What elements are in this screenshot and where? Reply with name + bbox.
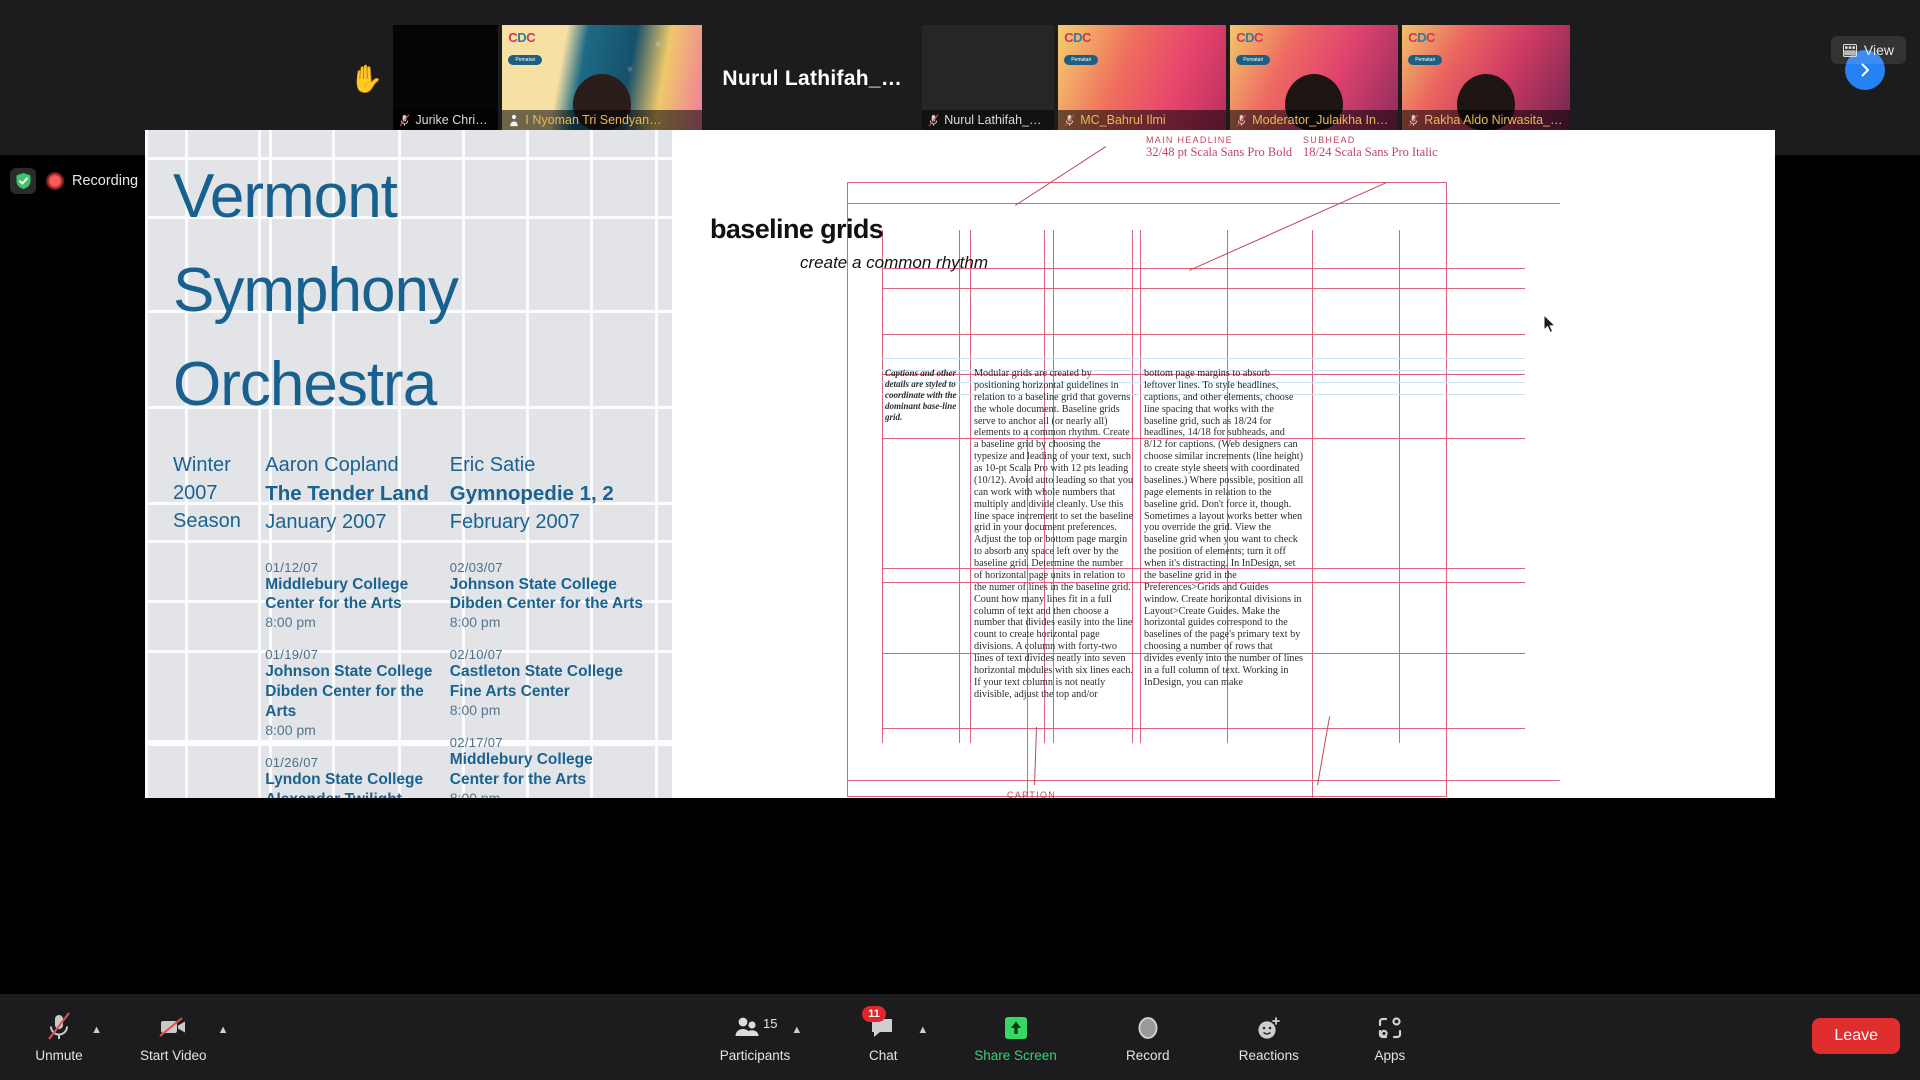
annotation-key: SUBHEAD — [1303, 135, 1438, 145]
cdc-logo: CDC — [1408, 30, 1435, 45]
toolbar-label: Reactions — [1239, 1048, 1299, 1063]
shield-check-icon — [15, 172, 32, 190]
program-month: January 2007 — [265, 508, 450, 536]
listing-venue-line: Center for the Arts — [450, 770, 644, 790]
program-work: Gymnopedie 1, 2 — [450, 479, 644, 508]
listing-venue-line: Middlebury College — [450, 750, 644, 770]
listing-venue-line: Dibden Center for the Arts — [265, 682, 450, 722]
cdc-pill: Pematari — [1408, 55, 1442, 65]
listing-venue-line: Fine Arts Center — [450, 682, 644, 702]
annotation-subhead: SUBHEAD 18/24 Scala Sans Pro Italic — [1303, 135, 1438, 160]
listing-venue-line: Center for the Arts — [265, 594, 450, 614]
recording-indicator[interactable]: Recording — [46, 172, 138, 190]
listing-venue-line: Alexander Twilight Theater — [265, 790, 450, 798]
listing-time: 8:00 pm — [450, 614, 644, 630]
participants-icon: 152 — [732, 1012, 778, 1042]
listing-venue-line: Dibden Center for the Arts — [450, 594, 644, 614]
microphone-off-icon — [46, 1012, 72, 1042]
program-month: February 2007 — [450, 508, 644, 536]
raised-hand-icon: ✋ — [350, 66, 384, 93]
participant-name: I Nyoman Tri Sendyan… — [525, 113, 661, 127]
listing-venue-line: Lyndon State College — [265, 770, 450, 790]
baseline-grid-diagram: baseline grids create a common rhythm Ca… — [672, 130, 1775, 798]
record-icon — [1134, 1012, 1162, 1042]
reactions-icon — [1254, 1012, 1284, 1042]
participant-name: MC_Bahrul Ilmi — [1080, 113, 1165, 127]
microphone-off-icon — [399, 114, 410, 127]
cdc-pill: Pematari — [1064, 55, 1098, 65]
encryption-status-button[interactable] — [10, 168, 36, 194]
leave-button[interactable]: Leave — [1812, 1018, 1900, 1054]
diagram-body-column-1: Modular grids are created by positioning… — [974, 368, 1134, 728]
toolbar-label: Unmute — [35, 1048, 82, 1063]
listing-time: 8:00 pm — [450, 790, 644, 798]
listing-item: 02/17/07 Middlebury College Center for t… — [450, 735, 644, 798]
svg-text:152: 152 — [763, 1016, 778, 1031]
toolbar-label: Start Video — [140, 1048, 207, 1063]
participant-name: Nurul Lathifah_PWK — [944, 113, 1048, 127]
grid-view-icon — [1843, 44, 1857, 57]
season-line: Winter — [173, 451, 265, 479]
recording-dot-icon — [46, 172, 64, 190]
toolbar-label: Chat — [869, 1048, 898, 1063]
poster-title-line: Orchestra — [173, 338, 644, 432]
listing-date: 01/26/07 — [265, 755, 450, 770]
listing-venue-line: Middlebury College — [265, 575, 450, 595]
camera-off-icon — [158, 1012, 188, 1042]
start-video-button[interactable]: ▲ Start Video — [130, 1012, 217, 1063]
toolbar-label: Record — [1126, 1048, 1170, 1063]
chat-unread-badge: 11 — [862, 1006, 886, 1022]
reactions-button[interactable]: Reactions — [1229, 1012, 1309, 1063]
share-screen-icon — [1002, 1012, 1030, 1042]
annotation-key: CAPTION — [1007, 790, 1056, 798]
poster-season: Winter 2007 Season — [173, 451, 265, 537]
poster-program: Eric Satie Gymnopedie 1, 2 February 2007 — [450, 451, 644, 537]
annotation-main-headline: MAIN HEADLINE 32/48 pt Scala Sans Pro Bo… — [1146, 135, 1292, 160]
participant-namebar: Nurul Lathifah_PWK — [922, 110, 1054, 130]
participants-button[interactable]: 152 ▲ Participants — [710, 1012, 801, 1063]
annotation-key: MAIN HEADLINE — [1146, 135, 1292, 145]
cdc-pill: Pematari — [1236, 55, 1270, 65]
listing-date: 02/10/07 — [450, 647, 644, 662]
participant-name: Moderator_Julaikha In… — [1252, 113, 1388, 127]
participant-namebar: MC_Bahrul Ilmi — [1058, 110, 1226, 130]
microphone-off-icon — [928, 114, 939, 127]
annotation-caption: CAPTION — [1007, 790, 1056, 798]
participant-namebar: I Nyoman Tri Sendyan… — [502, 110, 702, 130]
annotation-value: 32/48 pt Scala Sans Pro Bold — [1146, 145, 1292, 160]
annotation-value: 18/24 Scala Sans Pro Italic — [1303, 145, 1438, 160]
cdc-logo: CDC — [1236, 30, 1263, 45]
zoom-meeting-window: ✋ Jurike Christine Sembi… CDC Pematari — [0, 0, 1920, 1080]
apps-icon — [1376, 1012, 1404, 1042]
participant-tile[interactable]: CDC Pematari I Nyoman Tri Sendyan… — [502, 25, 702, 130]
toolbar-label: Participants — [720, 1048, 791, 1063]
listing-column-january: 01/12/07 Middlebury College Center for t… — [265, 543, 450, 798]
participant-name: Jurike Christine Sembi… — [415, 113, 492, 127]
program-composer: Aaron Copland — [265, 451, 450, 479]
listing-date: 02/17/07 — [450, 735, 644, 750]
share-screen-button[interactable]: Share Screen — [964, 1012, 1067, 1063]
season-line: 2007 — [173, 479, 265, 507]
listing-date: 02/03/07 — [450, 560, 644, 575]
leave-button-label: Leave — [1834, 1027, 1878, 1044]
participant-tile[interactable]: Jurike Christine Sembi… — [393, 25, 498, 130]
vso-poster: Vermont Symphony Orchestra Winter 2007 S… — [145, 130, 672, 798]
meeting-toolbar: ▲ Unmute ▲ Start Video 15 — [0, 994, 1920, 1080]
microphone-off-icon — [1236, 114, 1247, 127]
poster-program: Aaron Copland The Tender Land January 20… — [265, 451, 450, 537]
shared-screen-content: Vermont Symphony Orchestra Winter 2007 S… — [145, 130, 1775, 798]
listing-date: 01/12/07 — [265, 560, 450, 575]
view-button[interactable]: View — [1831, 36, 1906, 64]
diagram-headline: baseline grids — [710, 214, 883, 245]
listing-column-february: 02/03/07 Johnson State College Dibden Ce… — [450, 543, 644, 798]
listing-time: 8:00 pm — [450, 702, 644, 718]
listing-item: 02/03/07 Johnson State College Dibden Ce… — [450, 560, 644, 631]
meeting-status-row: Recording — [10, 168, 138, 194]
chevron-up-icon[interactable]: ▲ — [791, 1024, 802, 1036]
participant-namebar: Jurike Christine Sembi… — [393, 110, 498, 130]
listing-venue-line: Johnson State College — [265, 662, 450, 682]
listing-item: 02/10/07 Castleton State College Fine Ar… — [450, 647, 644, 718]
poster-program-row: Winter 2007 Season Aaron Copland The Ten… — [173, 451, 644, 537]
listing-item: 01/12/07 Middlebury College Center for t… — [265, 560, 450, 631]
toolbar-label: Apps — [1374, 1048, 1405, 1063]
video-on-icon — [508, 114, 520, 127]
cdc-logo: CDC — [508, 30, 535, 45]
chevron-up-icon[interactable]: ▲ — [917, 1024, 928, 1036]
participant-tile[interactable]: Nurul Lathifah_PWK — [922, 25, 1054, 130]
poster-title-line: Vermont — [173, 150, 644, 244]
recording-label: Recording — [72, 173, 138, 189]
toolbar-label: Share Screen — [974, 1048, 1057, 1063]
listing-item: 01/26/07 Lyndon State College Alexander … — [265, 755, 450, 798]
unmute-button[interactable]: ▲ Unmute — [22, 1012, 96, 1063]
participant-tile[interactable]: CDC Pematari Rakha Aldo Nirwasita_… — [1402, 25, 1570, 130]
cdc-pill: Pematari — [508, 55, 542, 65]
view-button-label: View — [1864, 42, 1894, 58]
listing-item: 01/19/07 Johnson State College Dibden Ce… — [265, 647, 450, 737]
active-speaker-name: Nurul Lathifah_… — [722, 67, 902, 91]
program-composer: Eric Satie — [450, 451, 644, 479]
microphone-off-icon — [1064, 114, 1075, 127]
cdc-logo: CDC — [1064, 30, 1091, 45]
chat-button[interactable]: 11 ▲ Chat — [846, 1012, 920, 1063]
poster-content: Vermont Symphony Orchestra Winter 2007 S… — [145, 130, 672, 798]
diagram-caption-column: Captions and other details are styled to… — [885, 368, 957, 422]
mouse-cursor-icon — [1543, 314, 1557, 334]
participant-namebar: Rakha Aldo Nirwasita_… — [1402, 110, 1570, 130]
microphone-off-icon — [1408, 114, 1419, 127]
participant-namebar: Moderator_Julaikha In… — [1230, 110, 1398, 130]
listing-time: 8:00 pm — [265, 614, 450, 630]
participant-tile[interactable]: CDC Pematari MC_Bahrul Ilmi — [1058, 25, 1226, 130]
listing-venue-line: Castleton State College — [450, 662, 644, 682]
diagram-body-column-2: bottom page margins to absorb leftover l… — [1144, 368, 1304, 728]
season-line: Season — [173, 507, 265, 535]
listing-time: 8:00 pm — [265, 722, 450, 738]
record-button[interactable]: Record — [1111, 1012, 1185, 1063]
participant-tile[interactable]: CDC Pematari Moderator_Julaikha In… — [1230, 25, 1398, 130]
chevron-up-icon[interactable]: ▲ — [218, 1024, 229, 1036]
apps-button[interactable]: Apps — [1353, 1012, 1427, 1063]
chevron-right-glyph — [1857, 62, 1873, 78]
participant-name: Rakha Aldo Nirwasita_… — [1424, 113, 1562, 127]
program-work: The Tender Land — [265, 479, 450, 508]
listing-venue-line: Johnson State College — [450, 575, 644, 595]
chevron-up-icon[interactable]: ▲ — [91, 1024, 102, 1036]
poster-title-line: Symphony — [173, 244, 644, 338]
diagram-subhead: create a common rhythm — [800, 253, 988, 273]
listing-date: 01/19/07 — [265, 647, 450, 662]
